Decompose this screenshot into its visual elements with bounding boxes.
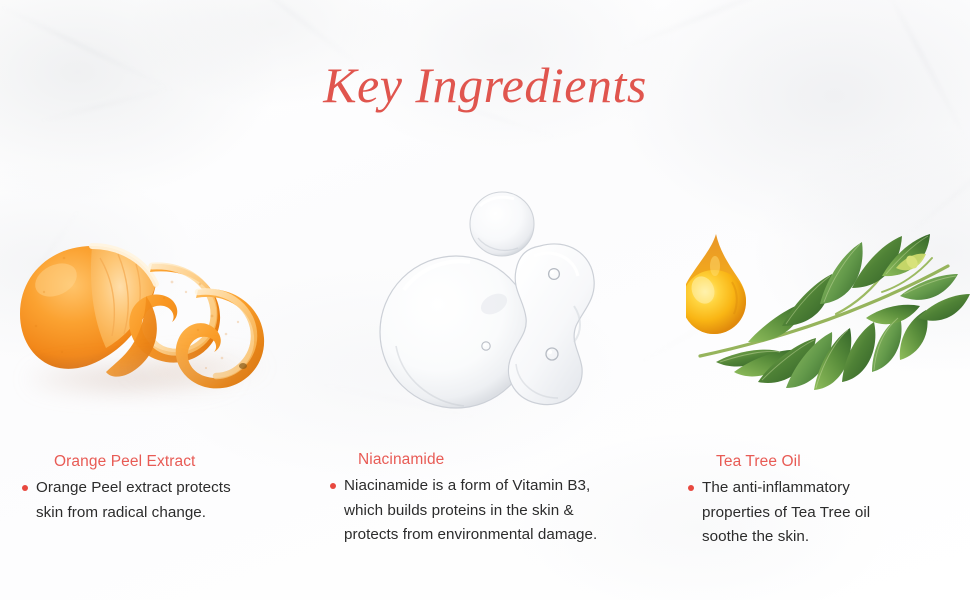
- bullet-dot-icon: [330, 483, 336, 489]
- ingredient-column-tea-tree-oil: Tea Tree Oil The anti-inflammatory prope…: [688, 452, 958, 550]
- ingredient-heading: Orange Peel Extract: [54, 452, 322, 472]
- orange-shadow: [120, 354, 270, 380]
- tea-tree-illustration: [686, 222, 970, 402]
- leaf: [866, 305, 920, 324]
- leaf: [872, 316, 902, 372]
- ingredient-heading: Niacinamide: [358, 450, 700, 470]
- marble-vein: [608, 0, 822, 56]
- page-title: Key Ingredients: [0, 56, 970, 114]
- gel-bubble-highlight: [483, 343, 486, 346]
- oil-highlight-tip: [710, 256, 720, 276]
- ingredient-bullet-row: Orange Peel extract protects skin from r…: [22, 476, 322, 525]
- gel-blob-large: [380, 256, 532, 408]
- ingredient-body-text: Niacinamide is a form of Vitamin B3, whi…: [344, 474, 597, 548]
- bullet-dot-icon: [688, 485, 694, 491]
- ingredient-column-orange-peel: Orange Peel Extract Orange Peel extract …: [22, 452, 322, 525]
- ingredient-body-text: The anti-inflammatory properties of Tea …: [702, 476, 870, 550]
- serum-gel-illustration: [368, 186, 618, 421]
- gel-bubble-highlight: [548, 350, 552, 354]
- ingredient-bullet-row: The anti-inflammatory properties of Tea …: [688, 476, 958, 550]
- ingredient-bullet-row: Niacinamide is a form of Vitamin B3, whi…: [330, 474, 700, 548]
- ingredient-heading: Tea Tree Oil: [716, 452, 958, 472]
- ingredient-column-niacinamide: Niacinamide Niacinamide is a form of Vit…: [330, 450, 700, 548]
- oil-droplet: [686, 234, 746, 334]
- gel-bubble-highlight: [550, 270, 554, 274]
- serum-gel-image: [368, 186, 618, 421]
- key-ingredients-infographic: Key Ingredients: [0, 0, 970, 600]
- orange-peel-image: [0, 222, 290, 422]
- tea-tree-image: [686, 222, 970, 402]
- bullet-dot-icon: [22, 485, 28, 491]
- gel-blob-small: [470, 192, 534, 256]
- ingredient-body-text: Orange Peel extract protects skin from r…: [36, 476, 231, 525]
